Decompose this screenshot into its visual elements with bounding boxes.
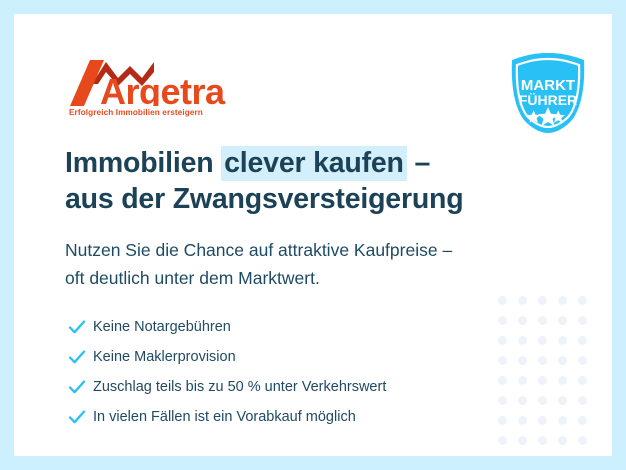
decorative-dot (518, 296, 527, 305)
list-item: Keine Maklerprovision (67, 342, 517, 372)
argetra-logo[interactable]: Argetra Erfolgreich Immobilien ersteiger… (68, 58, 268, 120)
decorative-dot (558, 296, 567, 305)
decorative-dot (538, 316, 547, 325)
decorative-dot (578, 436, 587, 445)
argetra-logo-mark: Argetra (68, 58, 268, 106)
check-icon (67, 407, 93, 427)
decorative-dot (578, 336, 587, 345)
decorative-dot (498, 436, 507, 445)
decorative-dot (578, 416, 587, 425)
list-item: Zuschlag teils bis zu 50 % unter Verkehr… (67, 372, 517, 402)
decorative-dot (558, 396, 567, 405)
list-item-label: In vielen Fällen ist ein Vorabkauf mögli… (93, 409, 356, 425)
check-icon (67, 317, 93, 337)
decorative-dot (538, 416, 547, 425)
decorative-dot (578, 296, 587, 305)
decorative-dot (578, 316, 587, 325)
decorative-dot (538, 356, 547, 365)
headline-text-before: Immobilien (65, 147, 221, 179)
markt-fuehrer-badge: MARKT FÜHRER (506, 50, 590, 136)
svg-text:Argetra: Argetra (100, 71, 226, 106)
decorative-dot (558, 356, 567, 365)
decorative-dot (558, 436, 567, 445)
headline-highlight: clever kaufen (221, 146, 407, 181)
decorative-dot (558, 416, 567, 425)
list-item-label: Keine Notargebühren (93, 319, 231, 335)
headline-line1: Immobilien clever kaufen – (65, 146, 430, 181)
decorative-dot (578, 396, 587, 405)
decorative-dot (498, 296, 507, 305)
decorative-dot (518, 416, 527, 425)
decorative-dot (578, 376, 587, 385)
badge-line2: FÜHRER (519, 92, 577, 108)
decorative-dot (538, 436, 547, 445)
decorative-dot (538, 376, 547, 385)
page-subtitle: Nutzen Sie die Chance auf attraktive Kau… (65, 236, 565, 292)
page-title: Immobilien clever kaufen – aus der Zwang… (65, 145, 565, 217)
decorative-dot (518, 356, 527, 365)
decorative-dot (538, 296, 547, 305)
decorative-dot (518, 316, 527, 325)
headline-line2: aus der Zwangsversteigerung (65, 183, 463, 215)
decorative-dot (518, 376, 527, 385)
list-item-label: Zuschlag teils bis zu 50 % unter Verkehr… (93, 379, 386, 395)
check-icon (67, 377, 93, 397)
decorative-dot (578, 356, 587, 365)
decorative-dot (558, 316, 567, 325)
logo-tagline: Erfolgreich Immobilien ersteigern (69, 108, 203, 117)
decorative-dot (518, 336, 527, 345)
decorative-dot (558, 376, 567, 385)
list-item: In vielen Fällen ist ein Vorabkauf mögli… (67, 402, 517, 432)
decorative-dot (558, 336, 567, 345)
check-icon (67, 347, 93, 367)
decorative-dot (538, 396, 547, 405)
shield-icon: MARKT FÜHRER (506, 50, 590, 136)
headline-text-after: – (407, 147, 430, 179)
promo-card: Argetra Erfolgreich Immobilien ersteiger… (14, 14, 612, 456)
decorative-dot (518, 436, 527, 445)
subtitle-line2: oft deutlich unter dem Marktwert. (65, 268, 320, 288)
list-item-label: Keine Maklerprovision (93, 349, 236, 365)
benefit-list: Keine Notargebühren Keine Maklerprovisio… (67, 312, 517, 432)
subtitle-line1: Nutzen Sie die Chance auf attraktive Kau… (65, 240, 452, 260)
list-item: Keine Notargebühren (67, 312, 517, 342)
decorative-dot (518, 396, 527, 405)
decorative-dot (538, 336, 547, 345)
